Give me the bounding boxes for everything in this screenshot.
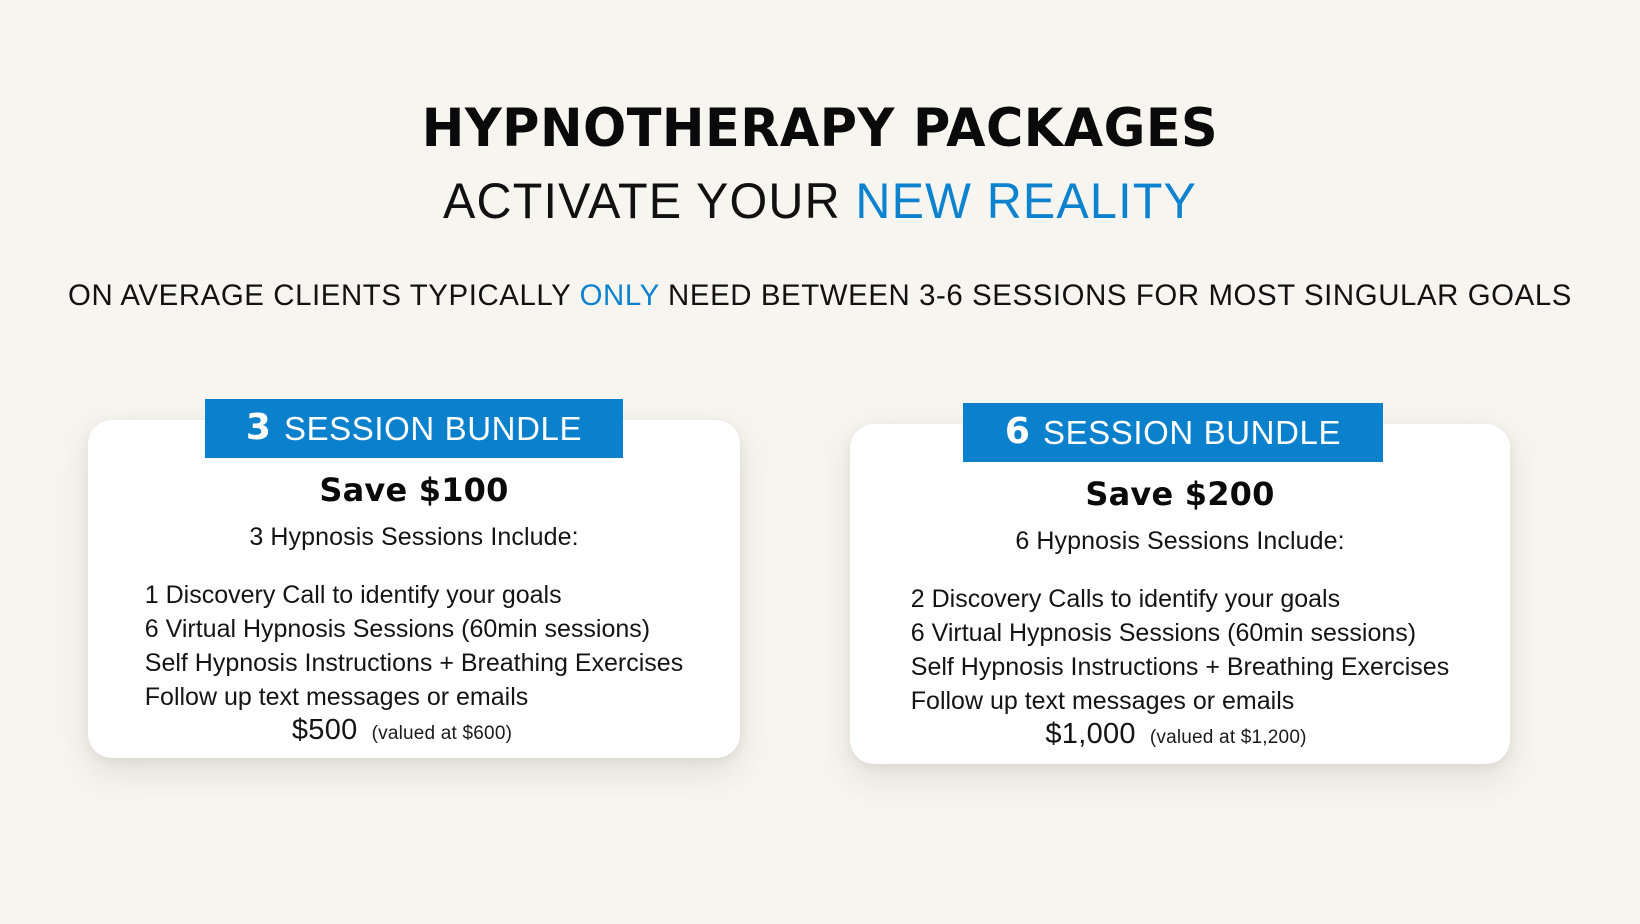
banner-session-label: SESSION BUNDLE bbox=[284, 412, 582, 445]
list-item: 1 Discovery Call to identify your goals bbox=[145, 578, 683, 612]
package-save-label: Save $200 bbox=[1085, 475, 1274, 513]
page-title: HYPNOTHERAPY PACKAGES bbox=[33, 98, 1607, 161]
package-card-6-session[interactable]: Save $200 6 Hypnosis Sessions Include: 2… bbox=[850, 424, 1510, 764]
package-banner-6-session: 6 SESSION BUNDLE bbox=[963, 403, 1383, 462]
tagline-accent: ONLY bbox=[580, 279, 660, 312]
package-price-row: $500 (valued at $600) bbox=[292, 714, 536, 765]
package-includes-label: 6 Hypnosis Sessions Include: bbox=[1015, 527, 1344, 556]
package-feature-list: 1 Discovery Call to identify your goals … bbox=[145, 578, 683, 714]
list-item: Follow up text messages or emails bbox=[145, 680, 683, 714]
tagline: ON AVERAGE CLIENTS TYPICALLY ONLY NEED B… bbox=[16, 279, 1623, 313]
package-price-note: (valued at $600) bbox=[372, 723, 513, 745]
package-card-body: Save $200 6 Hypnosis Sessions Include: 2… bbox=[850, 424, 1510, 764]
subtitle-accent: NEW REALITY bbox=[855, 173, 1197, 229]
banner-session-count: 6 bbox=[1005, 414, 1030, 450]
list-item: Self Hypnosis Instructions + Breathing E… bbox=[911, 650, 1449, 684]
header-block: HYPNOTHERAPY PACKAGES ACTIVATE YOUR NEW … bbox=[0, 98, 1640, 234]
list-item: 6 Virtual Hypnosis Sessions (60min sessi… bbox=[145, 612, 683, 646]
list-item: Self Hypnosis Instructions + Breathing E… bbox=[145, 646, 683, 680]
package-price-note: (valued at $1,200) bbox=[1150, 727, 1307, 749]
package-price-row: $1,000 (valued at $1,200) bbox=[1045, 718, 1314, 769]
package-save-label: Save $100 bbox=[319, 471, 508, 509]
package-card-body: Save $100 3 Hypnosis Sessions Include: 1… bbox=[88, 420, 740, 758]
banner-session-count: 3 bbox=[246, 410, 271, 446]
package-price: $500 bbox=[292, 714, 358, 747]
list-item: 2 Discovery Calls to identify your goals bbox=[911, 582, 1449, 616]
tagline-part1: ON AVERAGE CLIENTS TYPICALLY bbox=[68, 279, 580, 312]
page-subtitle: ACTIVATE YOUR NEW REALITY bbox=[25, 169, 1616, 234]
pricing-page: HYPNOTHERAPY PACKAGES ACTIVATE YOUR NEW … bbox=[0, 0, 1640, 924]
package-feature-list: 2 Discovery Calls to identify your goals… bbox=[911, 582, 1449, 718]
package-includes-label: 3 Hypnosis Sessions Include: bbox=[249, 523, 578, 552]
package-banner-3-session: 3 SESSION BUNDLE bbox=[205, 399, 623, 458]
subtitle-plain: ACTIVATE YOUR bbox=[443, 173, 855, 229]
package-price: $1,000 bbox=[1045, 718, 1136, 751]
banner-session-label: SESSION BUNDLE bbox=[1043, 416, 1341, 449]
tagline-part2: NEED BETWEEN 3-6 SESSIONS FOR MOST SINGU… bbox=[659, 279, 1572, 312]
list-item: Follow up text messages or emails bbox=[911, 684, 1449, 718]
package-card-3-session[interactable]: Save $100 3 Hypnosis Sessions Include: 1… bbox=[88, 420, 740, 758]
list-item: 6 Virtual Hypnosis Sessions (60min sessi… bbox=[911, 616, 1449, 650]
